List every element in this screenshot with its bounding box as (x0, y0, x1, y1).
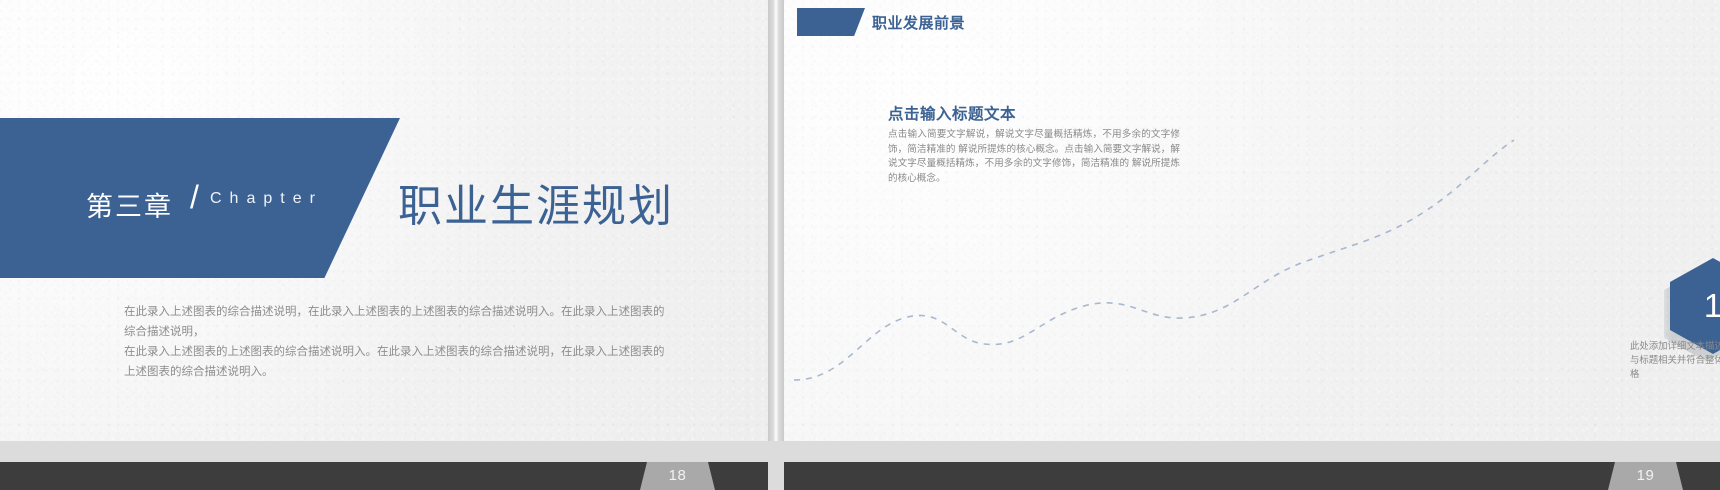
slide-chapter-divider[interactable]: 第三章 / Chapter 职业生涯规划 在此录入上述图表的综合描述说明，在此录… (0, 0, 768, 441)
chapter-label-chinese: 第三章 (86, 185, 173, 224)
page-number-right: 19 (1608, 462, 1683, 490)
chapter-label-english: Chapter (210, 190, 323, 208)
chapter-banner-shape (0, 118, 400, 278)
footer-bar-right (784, 462, 1720, 490)
page-number-left: 18 (640, 462, 715, 490)
chapter-title: 职业生涯规划 (398, 170, 674, 234)
chapter-separator-slash: / (190, 179, 199, 216)
intro-heading: 点击输入标题文本 (888, 102, 1016, 124)
slide-career-outlook[interactable]: 1 2 3 此处添加详细文本描述，建议与标题相关并符合整体语言风格 此处添加详细… (784, 0, 1720, 441)
hexagon-step-1-caption: 此处添加详细文本描述，建议与标题相关并符合整体语言风格 (1630, 339, 1720, 381)
intro-paragraph: 点击输入简要文字解说，解说文字尽量概括精炼，不用多余的文字修饰，简洁精准的 解说… (888, 128, 1180, 186)
slide-spread: 第三章 / Chapter 职业生涯规划 在此录入上述图表的综合描述说明，在此录… (0, 0, 1720, 490)
slide-header-title: 职业发展前景 (872, 12, 965, 33)
chapter-description-text: 在此录入上述图表的综合描述说明，在此录入上述图表的上述图表的综合描述说明入。在此… (124, 302, 684, 382)
dashed-connector-path (784, 0, 1720, 441)
spread-gutter (768, 0, 784, 441)
header-accent-chip (797, 8, 865, 36)
